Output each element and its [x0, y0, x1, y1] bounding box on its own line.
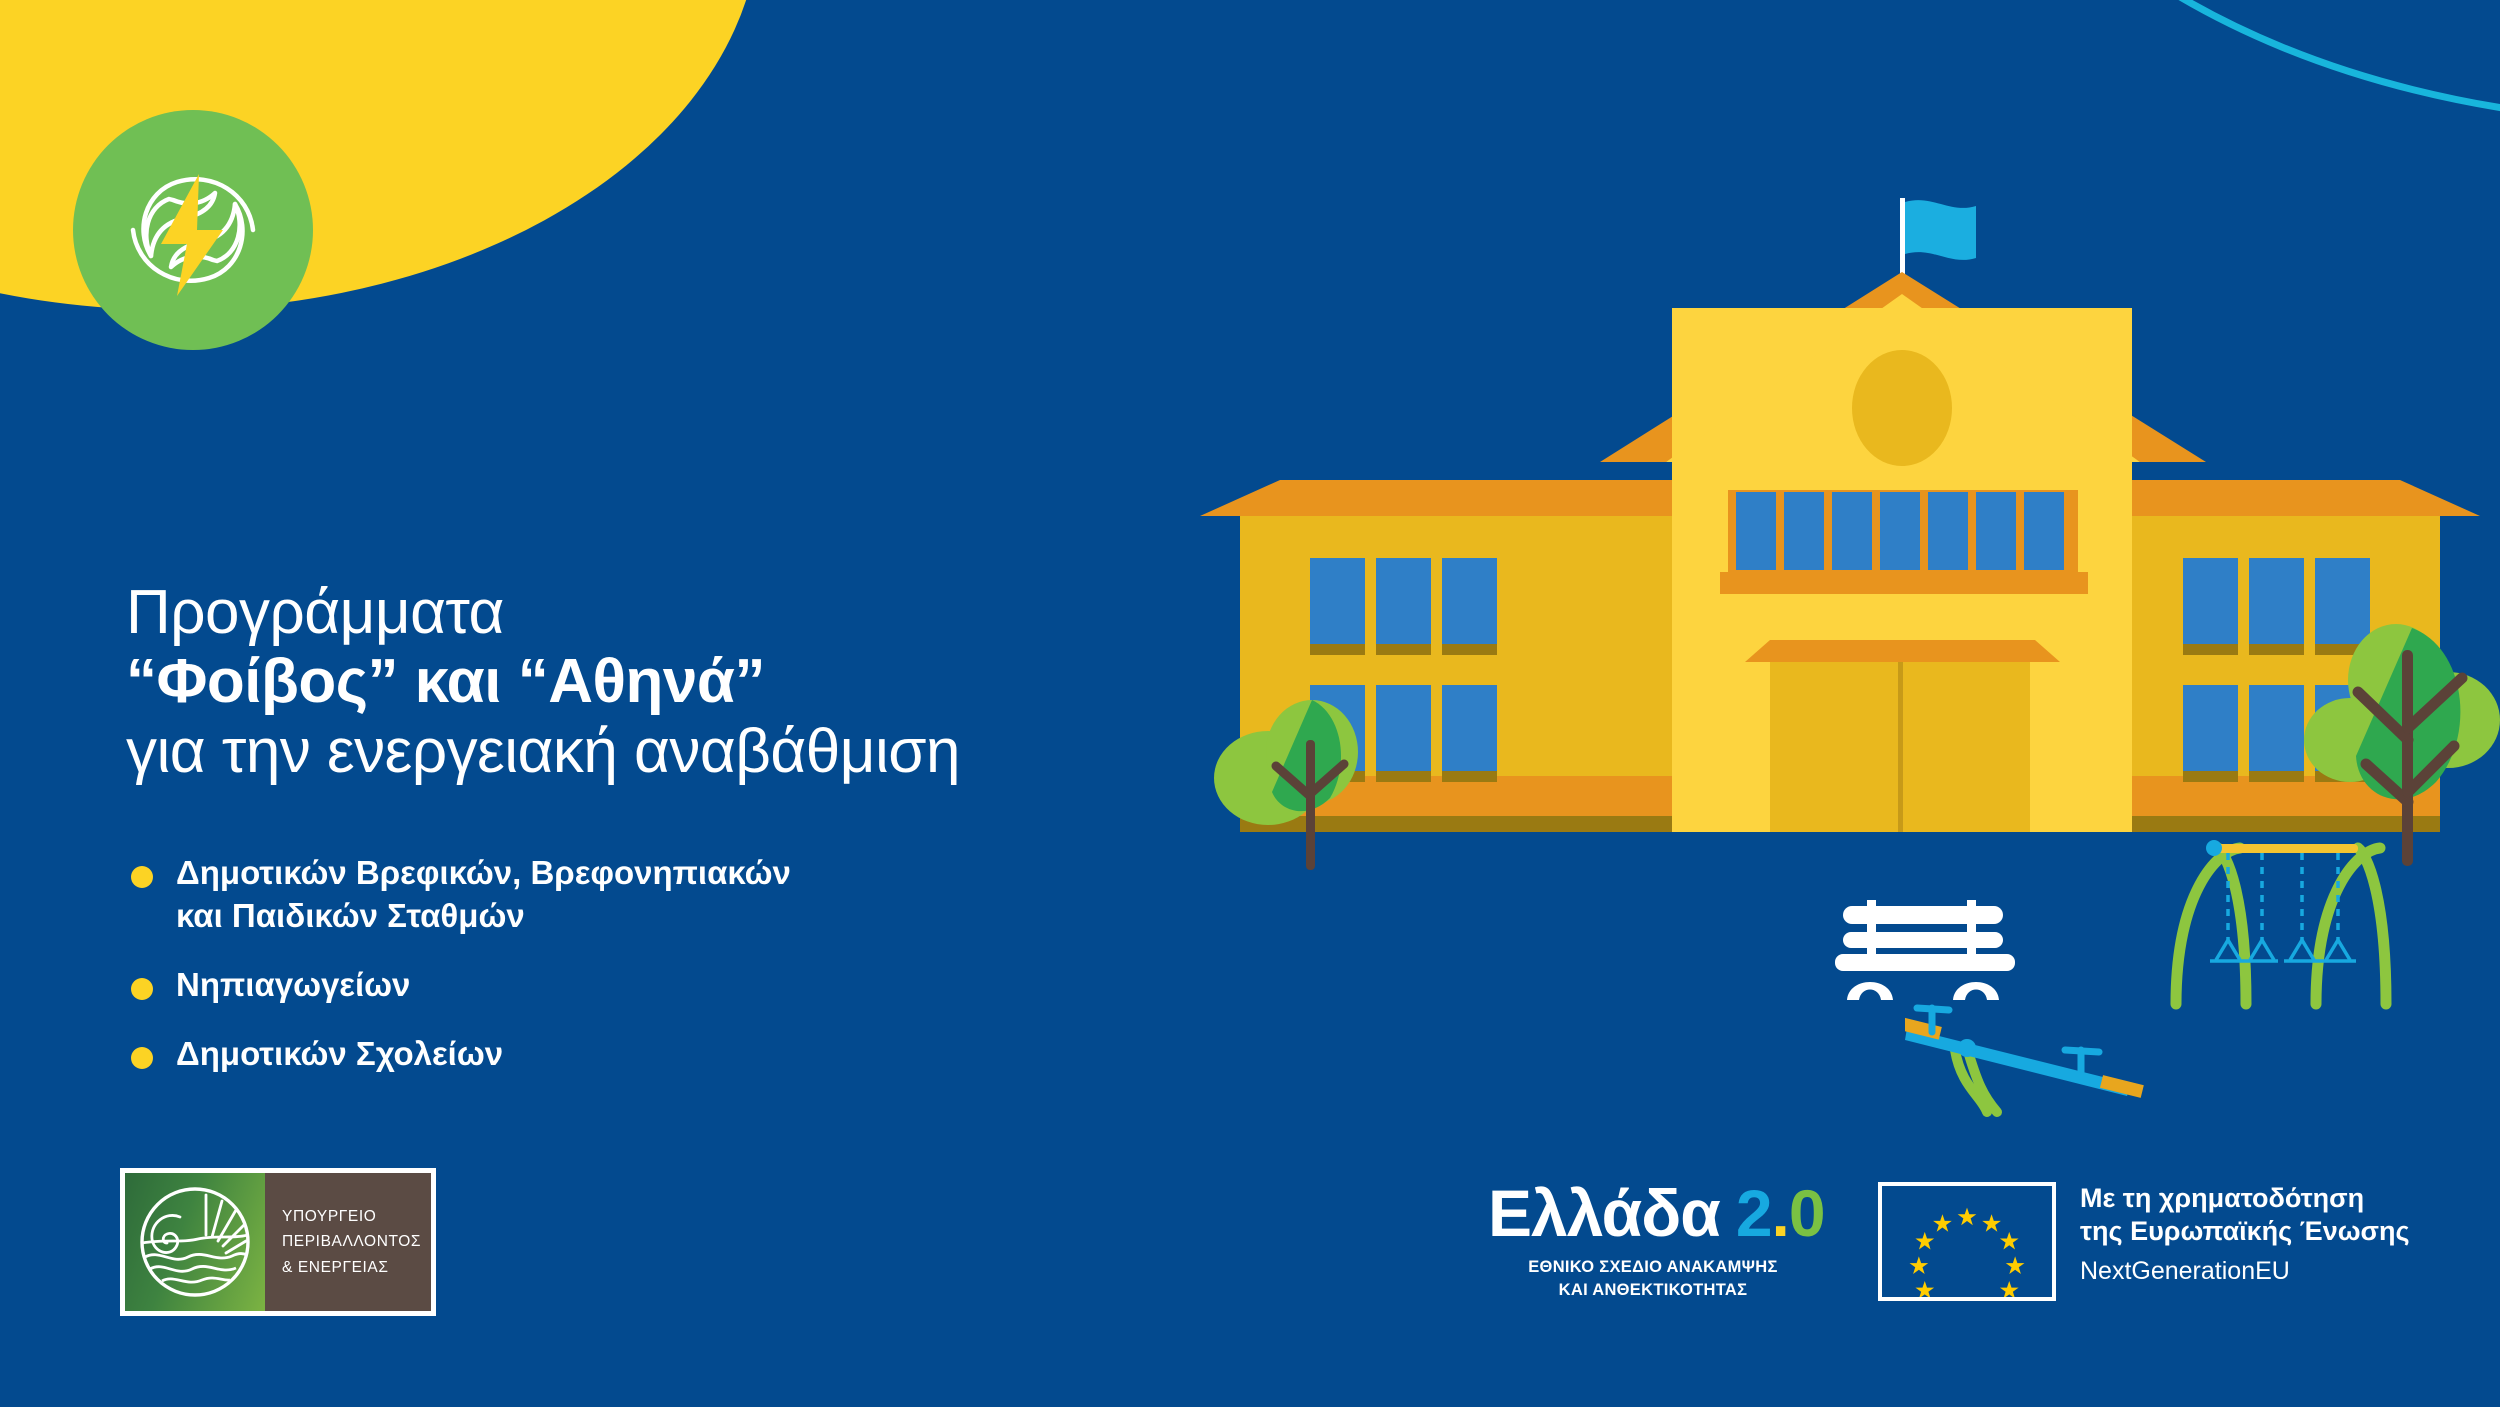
eu-flag-icon — [1878, 1182, 2056, 1301]
headline-line-1: Προγράμματα — [126, 578, 1206, 647]
ellada-subtitle-line-2: ΚΑΙ ΑΝΘΕΚΤΙΚΟΤΗΤΑΣ — [1488, 1279, 1818, 1302]
poster-canvas: Προγράμματα “Φοίβος” και “Αθηνά” για την… — [0, 0, 2500, 1407]
swing-set — [2166, 832, 2396, 1012]
park-bench — [1835, 888, 2015, 1008]
list-item: Νηπιαγωγείων — [126, 964, 1176, 1007]
eu-text-line-2: της Ευρωπαϊκής Ένωσης — [2080, 1215, 2410, 1248]
eu-funding-logo: Με τη χρηματοδότηση της Ευρωπαϊκής Ένωση… — [1878, 1182, 2410, 1301]
ellada-2-logo: Ελλάδα2.0 ΕΘΝΙΚΟ ΣΧΕΔΙΟ ΑΝΑΚΑΜΨΗΣ ΚΑΙ ΑΝ… — [1488, 1180, 1818, 1302]
flag-cloth — [1905, 200, 1976, 260]
tree-left — [1214, 700, 1358, 870]
list-item: Δημοτικών Βρεφικών, Βρεφονηπιακών και Πα… — [126, 852, 1176, 938]
ministry-line-3: & ΕΝΕΡΓΕΙΑΣ — [282, 1255, 421, 1280]
ellada-dot: . — [1772, 1176, 1789, 1250]
ministry-line-2: ΠΕΡΙΒΑΛΛΟΝΤΟΣ — [282, 1229, 421, 1254]
ministry-logo: ΥΠΟΥΡΓΕΙΟ ΠΕΡΙΒΑΛΛΟΝΤΟΣ & ΕΝΕΡΓΕΙΑΣ — [120, 1168, 436, 1316]
central-upper-windows — [1736, 492, 2064, 570]
eu-text-line-3: NextGenerationEU — [2080, 1255, 2410, 1288]
bullet-dot-icon — [131, 1047, 153, 1069]
ellada-subtitle-line-1: ΕΘΝΙΚΟ ΣΧΕΔΙΟ ΑΝΑΚΑΜΨΗΣ — [1488, 1256, 1818, 1279]
sun-waves-spiral-emblem — [136, 1183, 254, 1301]
eu-funding-text: Με τη χρηματοδότηση της Ευρωπαϊκής Ένωση… — [2080, 1182, 2410, 1287]
list-item: Δημοτικών Σχολείων — [126, 1033, 1176, 1076]
ministry-emblem-panel — [125, 1173, 265, 1311]
ellada-number-2: 2 — [1736, 1176, 1772, 1250]
ellada-wordmark: Ελλάδα — [1488, 1176, 1720, 1250]
headline-line-2: “Φοίβος” και “Αθηνά” — [126, 647, 1206, 716]
school-illustration — [1180, 180, 2500, 910]
energy-leaf-cycle-icon — [73, 110, 313, 350]
list-item-label: Νηπιαγωγείων — [176, 966, 410, 1003]
headline-block: Προγράμματα “Φοίβος” και “Αθηνά” για την… — [126, 578, 1206, 786]
ministry-name-panel: ΥΠΟΥΡΓΕΙΟ ΠΕΡΙΒΑΛΛΟΝΤΟΣ & ΕΝΕΡΓΕΙΑΣ — [265, 1173, 431, 1311]
list-item-label: Δημοτικών Βρεφικών, Βρεφονηπιακών και Πα… — [176, 854, 791, 934]
headline-line-3: για την ενεργειακή αναβάθμιση — [126, 717, 1206, 786]
energy-badge — [73, 110, 313, 350]
eu-text-line-1: Με τη χρηματοδότηση — [2080, 1182, 2410, 1215]
ministry-line-1: ΥΠΟΥΡΓΕΙΟ — [282, 1204, 421, 1229]
program-bullet-list: Δημοτικών Βρεφικών, Βρεφονηπιακών και Πα… — [126, 852, 1176, 1076]
ellada-number-0: 0 — [1789, 1176, 1825, 1250]
bullet-dot-icon — [131, 866, 153, 888]
list-item-label: Δημοτικών Σχολείων — [176, 1035, 503, 1072]
bullet-dot-icon — [131, 978, 153, 1000]
seesaw — [1905, 1000, 2165, 1130]
